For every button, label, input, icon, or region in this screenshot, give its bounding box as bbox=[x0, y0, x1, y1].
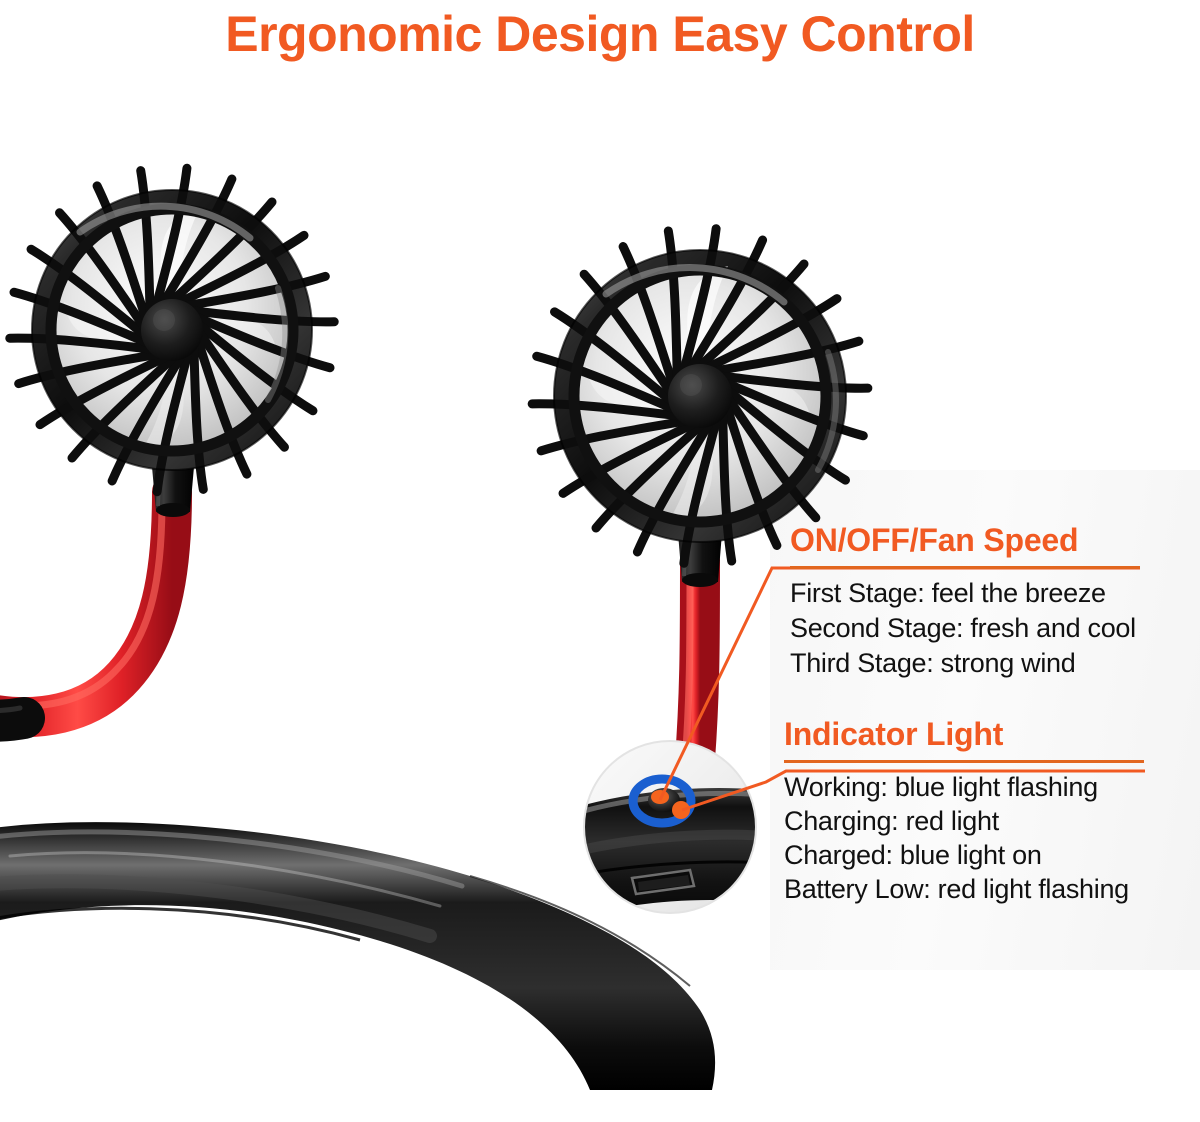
callout-line: Second Stage: fresh and cool bbox=[790, 611, 1190, 646]
product-infographic: Ergonomic Design Easy Control ON/OFF/Fan… bbox=[0, 0, 1200, 1122]
callout-fan-speed-rule bbox=[790, 566, 1140, 569]
callout-fan-speed-lines: First Stage: feel the breeze Second Stag… bbox=[790, 576, 1190, 681]
callout-line: Charging: red light bbox=[784, 804, 1194, 838]
callout-line: Working: blue light flashing bbox=[784, 770, 1194, 804]
indicator-light-led bbox=[672, 801, 690, 819]
callout-fan-speed-title: ON/OFF/Fan Speed bbox=[790, 524, 1190, 556]
detail-magnifier-circle bbox=[560, 741, 812, 922]
callout-indicator-light-lines: Working: blue light flashing Charging: r… bbox=[784, 770, 1194, 906]
callout-indicator-light-rule bbox=[784, 760, 1144, 763]
fan-head-left bbox=[10, 168, 334, 491]
callout-indicator-light: Indicator Light Working: blue light flas… bbox=[784, 718, 1194, 906]
page-title: Ergonomic Design Easy Control bbox=[0, 6, 1200, 62]
callout-line: First Stage: feel the breeze bbox=[790, 576, 1190, 611]
callout-fan-speed: ON/OFF/Fan Speed First Stage: feel the b… bbox=[790, 524, 1190, 681]
fan-hub-left bbox=[141, 299, 203, 361]
flexible-red-gooseneck-left bbox=[0, 492, 172, 721]
callout-line: Charged: blue light on bbox=[784, 838, 1194, 872]
fan-hub-right bbox=[668, 364, 732, 428]
callout-indicator-light-title: Indicator Light bbox=[784, 718, 1194, 750]
callout-line: Battery Low: red light flashing bbox=[784, 872, 1194, 906]
fan-head-right bbox=[532, 229, 868, 564]
callout-line: Third Stage: strong wind bbox=[790, 646, 1190, 681]
